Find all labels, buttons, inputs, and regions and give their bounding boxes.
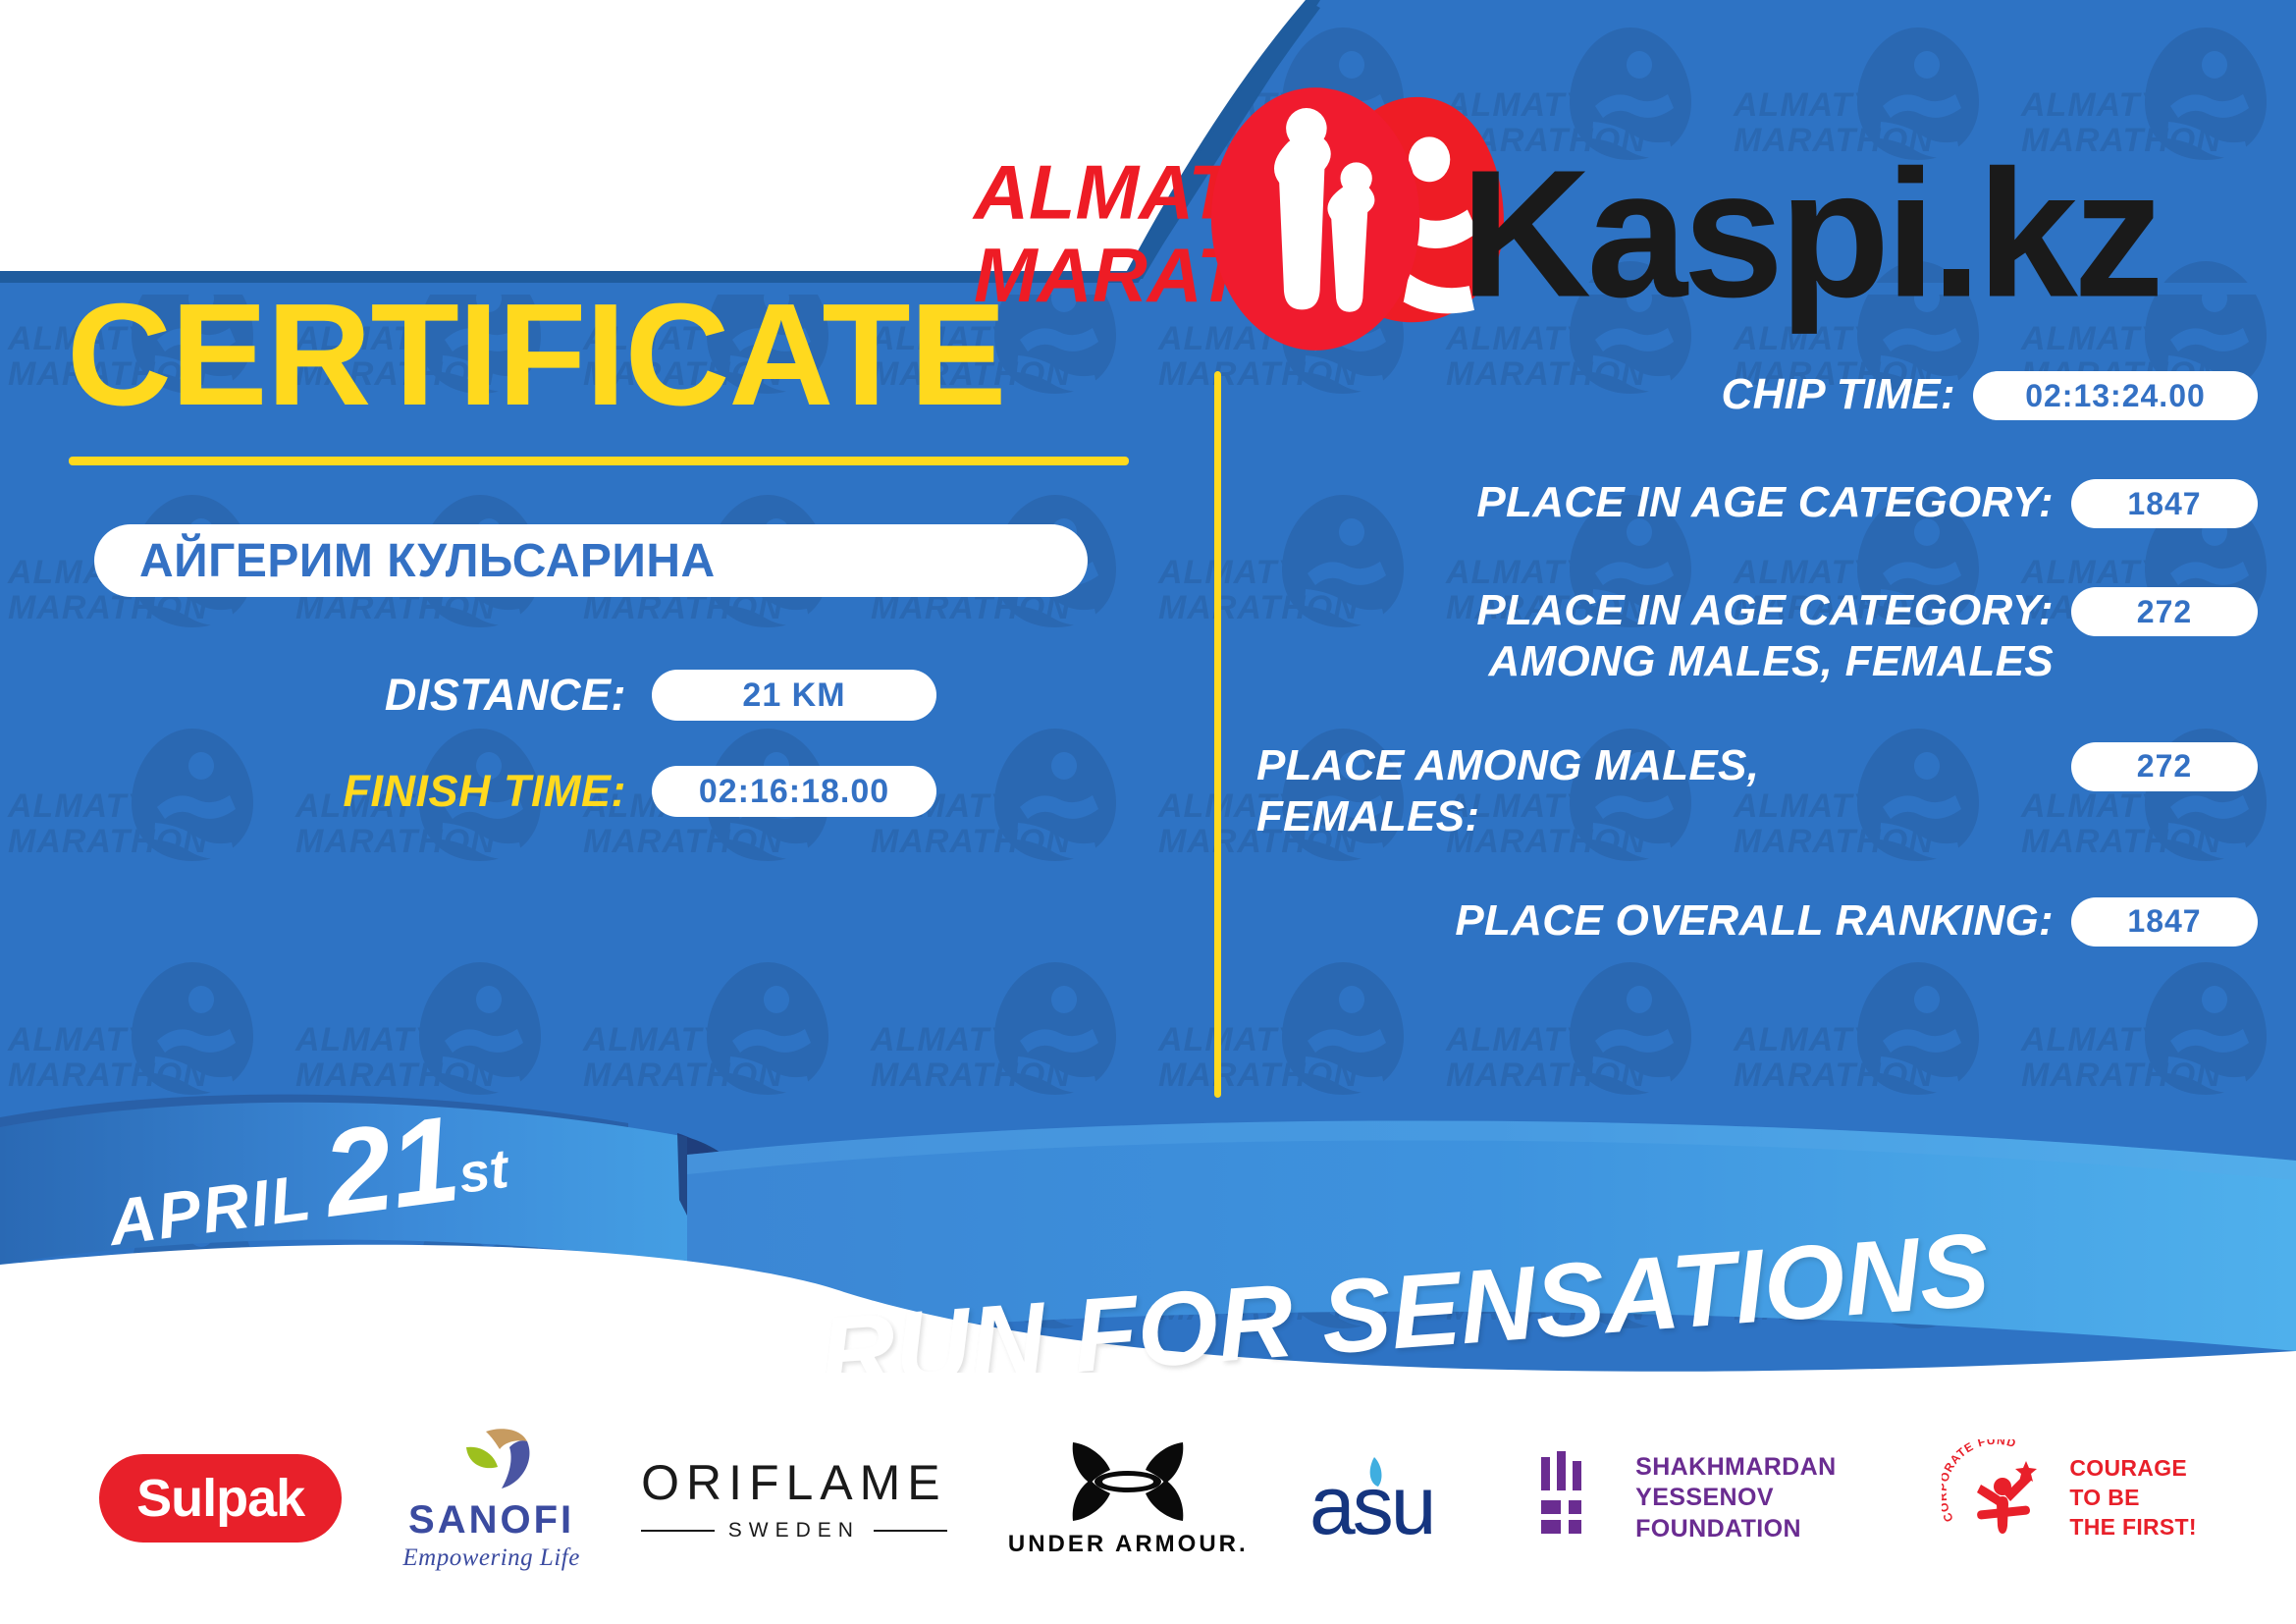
left-column: CERTIFICATE АЙГЕРИМ КУЛЬСАРИНА DISTANCE:… [0,295,1207,817]
place-among-gender-value-pill: 272 [2071,742,2258,791]
under-armour-name: UNDER ARMOUR. [1008,1531,1249,1558]
page-title: CERTIFICATE [67,279,1207,431]
chip-time-value-pill: 02:13:24.00 [1973,371,2258,420]
finish-time-label: FINISH TIME: [265,766,626,817]
place-among-gender-label: PLACE AMONG MALES, FEMALES: [1256,740,2071,842]
place-age-category-label: PLACE IN AGE CATEGORY: [1256,477,2071,528]
chip-time-value: 02:13:24.00 [2025,378,2206,414]
results-column: CHIP TIME: 02:13:24.00 PLACE IN AGE CATE… [1256,369,2258,1003]
place-age-category-gender-value: 272 [2137,594,2192,630]
result-row-place-age-category: PLACE IN AGE CATEGORY: 1847 [1256,477,2258,532]
yessenov-mark-icon [1537,1451,1614,1545]
place-overall-value-pill: 1847 [2071,897,2258,947]
place-overall-label: PLACE OVERALL RANKING: [1256,895,2071,947]
courage-text: COURAGE TO BE THE FIRST! [2069,1454,2197,1543]
title-underline [69,457,1129,465]
result-row-place-overall: PLACE OVERALL RANKING: 1847 [1256,895,2258,950]
place-among-gender-label-line2: FEMALES: [1256,791,2054,842]
finish-time-value-pill: 02:16:18.00 [652,766,936,817]
sponsor-under-armour: UNDER ARMOUR. [1008,1438,1249,1558]
participant-name-field: АЙГЕРИМ КУЛЬСАРИНА [94,524,1088,597]
sponsor-asu: asu [1309,1451,1476,1545]
column-divider [1214,371,1221,1098]
oriflame-rule-left [641,1530,715,1532]
sanofi-mark-icon [445,1426,539,1494]
event-date-day: 21 [316,1091,466,1243]
asu-logo-icon: asu [1309,1451,1476,1545]
distance-label: DISTANCE: [265,670,626,721]
event-date-month: APRIL [104,1161,316,1260]
place-overall-value: 1847 [2127,903,2201,940]
oriflame-sub-row: SWEDEN [641,1519,947,1543]
courage-fund-mark-icon: CORPORATE FUND [1942,1439,2059,1557]
oriflame-rule-right [874,1530,947,1532]
under-armour-logo-icon [1059,1438,1197,1525]
distance-value: 21 KM [742,677,845,715]
place-age-category-gender-value-pill: 272 [2071,587,2258,636]
place-age-category-gender-label-line2: AMONG MALES, FEMALES [1256,636,2054,687]
oriflame-name: ORIFLAME [641,1454,947,1511]
participant-name-value: АЙГЕРИМ КУЛЬСАРИНА [139,534,716,588]
sanofi-tagline: Empowering Life [402,1544,579,1572]
result-row-place-among-gender: PLACE AMONG MALES, FEMALES: 272 [1256,740,2258,842]
courage-line-3: THE FIRST! [2069,1513,2197,1543]
place-among-gender-label-line1: PLACE AMONG MALES, [1256,740,2054,791]
svg-text:Kaspi.kz: Kaspi.kz [1461,134,2160,336]
finish-time-value: 02:16:18.00 [699,773,889,811]
sponsor-sulpak: Sulpak [99,1454,342,1543]
event-date-suffix: st [455,1137,512,1205]
svg-text:asu: asu [1309,1459,1433,1545]
certificate-page: ALMATY MARATHON ALMATY [0,0,2296,1624]
sponsor-courage-to-be-the-first: CORPORATE FUND COURAGE TO BE THE FIRST! [1942,1439,2197,1557]
place-age-category-gender-label-line1: PLACE IN AGE CATEGORY: [1256,585,2054,636]
distance-row: DISTANCE: 21 KM [265,670,1207,721]
courage-line-2: TO BE [2069,1484,2197,1513]
sponsor-shakhmardan-yessenov: SHAKHMARDAN YESSENOV FOUNDATION [1537,1451,1881,1545]
header-bar: ALMATY MARATHON Kaspi.kz [0,0,2296,295]
courage-line-1: COURAGE [2069,1454,2197,1484]
place-among-gender-value: 272 [2137,748,2192,785]
result-row-chip-time: CHIP TIME: 02:13:24.00 [1256,369,2258,424]
chip-time-label: CHIP TIME: [1256,369,1973,420]
kaspi-kz-logo: Kaspi.kz [516,79,929,206]
sulpak-logo: Sulpak [99,1454,342,1543]
place-age-category-gender-label: PLACE IN AGE CATEGORY: AMONG MALES, FEMA… [1256,585,2071,687]
sponsor-sanofi: SANOFI Empowering Life [402,1426,579,1572]
yessenov-name-line1: SHAKHMARDAN YESSENOV [1635,1452,1881,1514]
sponsor-band: Sulpak SANOFI Empowering Life ORIFLAME S… [0,1373,2296,1624]
place-age-category-value: 1847 [2127,486,2201,522]
yessenov-name-line2: FOUNDATION [1635,1514,1881,1544]
oriflame-sub: SWEDEN [728,1519,860,1543]
place-age-category-value-pill: 1847 [2071,479,2258,528]
finish-time-row: FINISH TIME: 02:16:18.00 [265,766,1207,817]
almaty-marathon-logo: ALMATY MARATHON [94,59,399,226]
yessenov-name: SHAKHMARDAN YESSENOV FOUNDATION [1635,1452,1881,1544]
result-row-place-age-category-gender: PLACE IN AGE CATEGORY: AMONG MALES, FEMA… [1256,585,2258,687]
distance-value-pill: 21 KM [652,670,936,721]
sanofi-name: SANOFI [408,1498,574,1543]
sponsor-oriflame: ORIFLAME SWEDEN [641,1454,947,1543]
